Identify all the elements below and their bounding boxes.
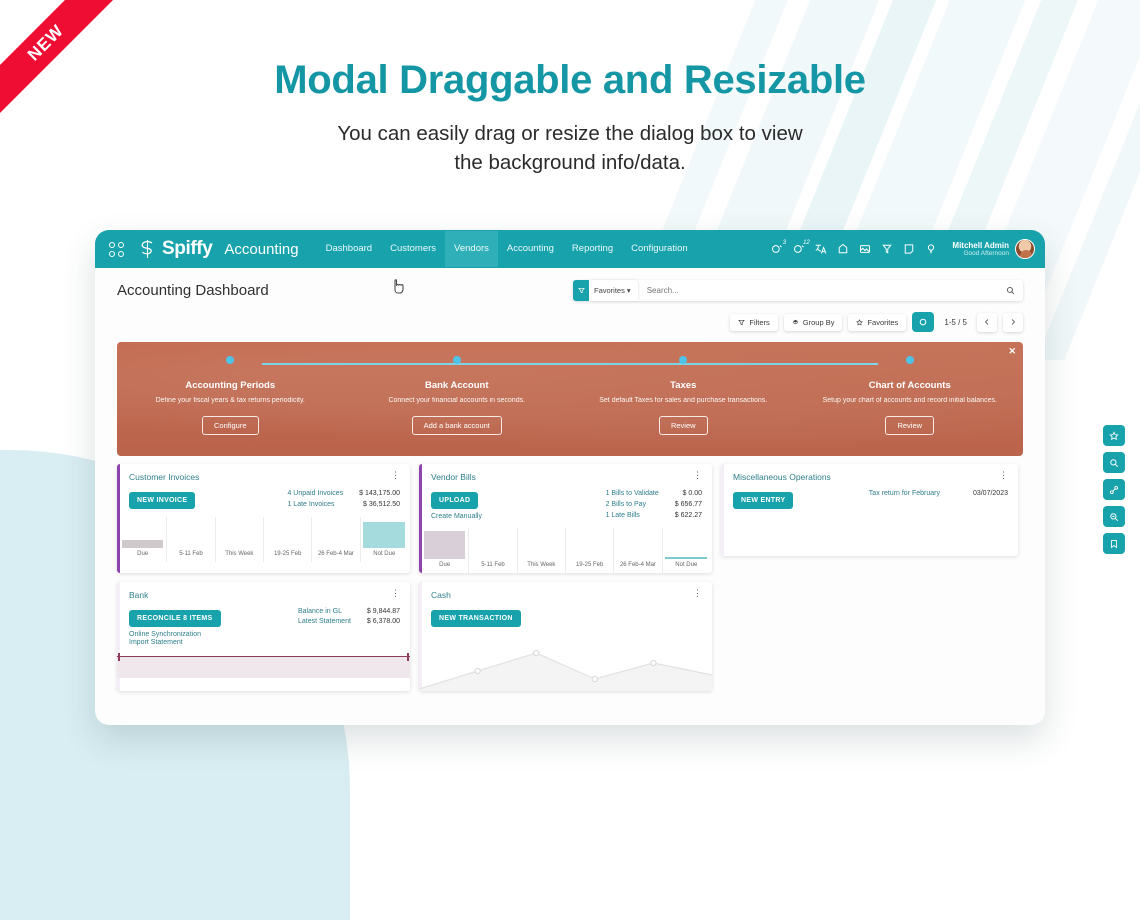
pager-label: 1-5 / 5 [940, 318, 971, 327]
step-dot-icon [679, 356, 687, 364]
star-fab[interactable] [1103, 425, 1125, 446]
activities-badge: 12 [802, 239, 810, 247]
upload-button[interactable]: UPLOAD [431, 492, 478, 509]
filters-label: Filters [749, 318, 769, 327]
nav-item-dashboard[interactable]: Dashboard [317, 231, 381, 267]
pager-next-button[interactable] [1003, 313, 1023, 332]
filters-button[interactable]: Filters [730, 314, 777, 331]
bar-label: 19-25 Feb [274, 548, 301, 562]
dashboard-cards: Customer Invoices ⋮ NEW INVOICE 4 Unpaid… [95, 456, 1045, 691]
late-invoices-value: $ 36,512.50 [359, 500, 400, 511]
step-description: Setup your chart of accounts and record … [797, 396, 1024, 407]
bar-label: 5-11 Feb [179, 548, 203, 562]
tax-return-label[interactable]: Tax return for February [869, 489, 940, 500]
balance-in-gl-value: $ 9,844.87 [367, 607, 400, 618]
app-name: Accounting [224, 241, 298, 258]
user-greeting: Good Afternoon [952, 250, 1009, 257]
card-title: Miscellaneous Operations [733, 472, 831, 482]
app-window: Spiffy Accounting Dashboard Customers Ve… [95, 230, 1045, 725]
card-cash: Cash ⋮ NEW TRANSACTION [419, 582, 712, 691]
activities-icon[interactable]: 12 [792, 243, 805, 256]
onboarding-step-taxes: Taxes Set default Taxes for sales and pu… [570, 356, 797, 456]
onboarding-step-chart-of-accounts: Chart of Accounts Setup your chart of ac… [797, 356, 1024, 456]
control-buttons: Filters Group By Favorites 1-5 / 5 [117, 312, 1023, 332]
late-bills-value: $ 622.27 [675, 511, 702, 522]
user-name: Mitchell Admin [952, 241, 1009, 250]
card-miscellaneous-operations: Miscellaneous Operations ⋮ NEW ENTRY Tax… [721, 464, 1018, 556]
bills-to-validate-value: $ 0.00 [675, 489, 702, 500]
search-fab[interactable] [1103, 452, 1125, 473]
card-menu-icon[interactable]: ⋮ [391, 590, 400, 596]
nav-item-accounting[interactable]: Accounting [498, 231, 563, 267]
card-vendor-bills: Vendor Bills ⋮ UPLOAD Create Manually 1 … [419, 464, 712, 573]
add-bank-account-button[interactable]: Add a bank account [412, 416, 502, 435]
messages-badge: 3 [780, 239, 788, 247]
bar-label: 26 Feb-4 Mar [620, 559, 656, 573]
hero-subtitle-line1: You can easily drag or resize the dialog… [337, 122, 802, 145]
step-title: Accounting Periods [117, 380, 344, 391]
filter-icon[interactable] [880, 243, 893, 256]
new-ribbon: NEW [0, 0, 130, 130]
balance-in-gl-label[interactable]: Balance in GL [298, 607, 351, 618]
unpaid-invoices-label[interactable]: 4 Unpaid Invoices [287, 489, 343, 500]
late-invoices-label[interactable]: 1 Late Invoices [287, 500, 343, 511]
review-taxes-button[interactable]: Review [659, 416, 708, 435]
bar-label: This Week [527, 559, 555, 573]
bar-label: Due [137, 548, 148, 562]
step-description: Connect your financial accounts in secon… [344, 396, 571, 407]
mouse-cursor [392, 278, 405, 300]
card-title: Vendor Bills [431, 472, 476, 482]
card-menu-icon[interactable]: ⋮ [999, 472, 1008, 478]
card-menu-icon[interactable]: ⋮ [391, 472, 400, 478]
card-title: Cash [431, 590, 451, 600]
card-menu-icon[interactable]: ⋮ [693, 590, 702, 596]
messages-icon[interactable]: 3 [770, 243, 783, 256]
bookmark-fab[interactable] [1103, 533, 1125, 554]
bills-to-validate-label[interactable]: 1 Bills to Validate [606, 489, 659, 500]
chart-customer-invoices: Due 5-11 Feb This Week 19-25 Feb 26 Feb-… [117, 517, 410, 562]
new-ribbon-label: NEW [0, 0, 129, 126]
late-bills-label[interactable]: 1 Late Bills [606, 511, 659, 522]
step-title: Bank Account [344, 380, 571, 391]
step-title: Chart of Accounts [797, 380, 1024, 391]
import-statement-link[interactable]: Import Statement [129, 639, 221, 646]
bills-to-pay-label[interactable]: 2 Bills to Pay [606, 500, 659, 511]
favorites-label: Favorites [867, 318, 898, 327]
onboarding-step-accounting-periods: Accounting Periods Define your fiscal ye… [117, 356, 344, 456]
tax-return-date: 03/07/2023 [956, 489, 1008, 500]
card-customer-invoices: Customer Invoices ⋮ NEW INVOICE 4 Unpaid… [117, 464, 410, 573]
lightbulb-icon[interactable] [924, 243, 937, 256]
brand-logo[interactable]: Spiffy [138, 238, 212, 260]
create-manually-link[interactable]: Create Manually [431, 513, 482, 520]
facet-label: Favorites [594, 286, 625, 295]
review-coa-button[interactable]: Review [885, 416, 934, 435]
brand-name: Spiffy [162, 238, 212, 260]
hero-section: Modal Draggable and Resizable You can ea… [0, 0, 1140, 177]
funnel-icon [573, 280, 589, 301]
onboarding-banner: ✕ Accounting Periods Define your fiscal … [117, 342, 1023, 456]
spiffy-logo-icon [138, 239, 157, 259]
configure-button[interactable]: Configure [202, 416, 259, 435]
nav-menu: Dashboard Customers Vendors Accounting R… [317, 230, 697, 268]
search-input[interactable] [638, 286, 1006, 295]
card-title: Customer Invoices [129, 472, 199, 482]
search-icon[interactable] [1006, 282, 1015, 300]
nav-item-vendors[interactable]: Vendors [445, 231, 498, 267]
hero-subtitle-line2: the background info/data. [454, 151, 685, 174]
bar-label: 19-25 Feb [576, 559, 603, 573]
bar-label: 26 Feb-4 Mar [318, 548, 354, 562]
chart-cash [419, 633, 712, 691]
bar-label: Not Due [675, 559, 697, 573]
user-menu[interactable]: Mitchell Admin Good Afternoon [952, 239, 1035, 259]
avatar[interactable] [1015, 239, 1035, 259]
translate-icon[interactable] [814, 243, 827, 256]
favorites-button[interactable]: Favorites [848, 314, 906, 331]
hero-subtitle: You can easily drag or resize the dialog… [0, 119, 1140, 177]
latest-statement-value: $ 6,378.00 [367, 617, 400, 628]
nav-item-configuration[interactable]: Configuration [622, 231, 697, 267]
latest-statement-label: Latest Statement [298, 617, 351, 628]
control-panel: Accounting Dashboard Favorites ▾ Filters [95, 268, 1045, 332]
bills-to-pay-value: $ 656.77 [675, 500, 702, 511]
apps-grid-icon[interactable] [109, 242, 124, 257]
card-bank: Bank ⋮ RECONCILE 8 ITEMS Online Synchron… [117, 582, 410, 691]
breadcrumb: Accounting Dashboard [117, 282, 269, 299]
new-transaction-button[interactable]: NEW TRANSACTION [431, 610, 521, 627]
bar-label: 5-11 Feb [481, 559, 505, 573]
onboarding-step-bank-account: Bank Account Connect your financial acco… [344, 356, 571, 456]
unpaid-invoices-value: $ 143,175.00 [359, 489, 400, 500]
group-by-button[interactable]: Group By [784, 314, 843, 331]
step-description: Define your fiscal years & tax returns p… [117, 396, 344, 407]
group-by-label: Group By [803, 318, 835, 327]
nav-item-customers[interactable]: Customers [381, 231, 445, 267]
bar-label: This Week [225, 548, 253, 562]
zoom-fab[interactable] [1103, 506, 1125, 527]
print-icon[interactable] [836, 243, 849, 256]
gallery-icon[interactable] [858, 243, 871, 256]
online-synchronization-link[interactable]: Online Synchronization [129, 631, 221, 638]
search-bar[interactable]: Favorites ▾ [573, 280, 1023, 301]
app-navbar: Spiffy Accounting Dashboard Customers Ve… [95, 230, 1045, 268]
card-title: Bank [129, 590, 148, 600]
reconcile-items-button[interactable]: RECONCILE 8 ITEMS [129, 610, 221, 627]
note-icon[interactable] [902, 243, 915, 256]
step-dot-icon [906, 356, 914, 364]
bar-label: Due [439, 559, 450, 573]
pager-prev-button[interactable] [977, 313, 997, 332]
bar-label: Not Due [373, 548, 395, 562]
nav-item-reporting[interactable]: Reporting [563, 231, 622, 267]
card-menu-icon[interactable]: ⋮ [693, 472, 702, 478]
floating-action-buttons [1103, 425, 1125, 554]
search-facet-favorites[interactable]: Favorites ▾ [573, 280, 638, 301]
step-dot-icon [226, 356, 234, 364]
new-entry-button[interactable]: NEW ENTRY [733, 492, 793, 509]
step-dot-icon [453, 356, 461, 364]
view-switcher-button[interactable] [912, 312, 934, 332]
new-invoice-button[interactable]: NEW INVOICE [129, 492, 195, 509]
card-accent-bar [721, 464, 724, 556]
bank-chart-footer [117, 656, 410, 678]
step-title: Taxes [570, 380, 797, 391]
link-fab[interactable] [1103, 479, 1125, 500]
step-description: Set default Taxes for sales and purchase… [570, 396, 797, 407]
navbar-right: 3 12 [770, 239, 1035, 259]
chart-vendor-bills: Due 5-11 Feb This Week 19-25 Feb 26 Feb-… [419, 528, 712, 573]
page-title: Modal Draggable and Resizable [0, 58, 1140, 103]
